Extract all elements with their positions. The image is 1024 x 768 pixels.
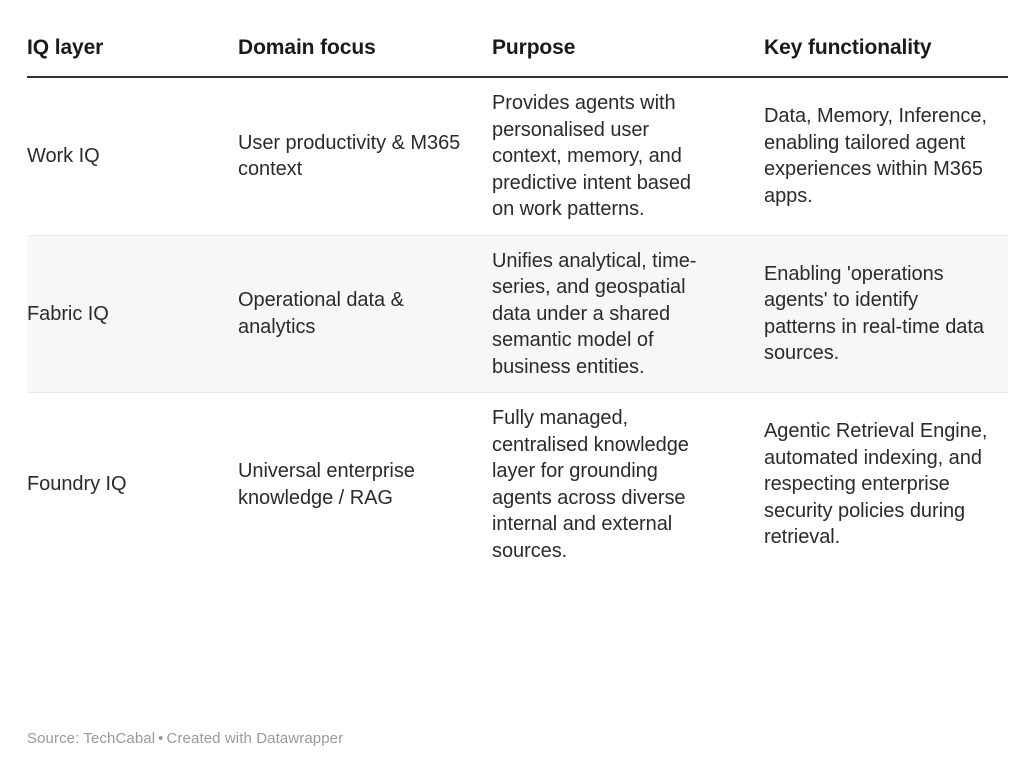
datawrapper-credit[interactable]: Created with Datawrapper <box>167 730 344 747</box>
table-header-row: IQ layer Domain focus Purpose Key functi… <box>27 36 1008 77</box>
cell-text-iq-layer: Fabric IQ <box>27 301 218 328</box>
source-label: Source: TechCabal <box>27 730 155 747</box>
cell-text-purpose: Fully managed, centralised knowledge lay… <box>492 405 716 564</box>
cell-text-domain-focus: User productivity & M365 context <box>238 130 470 183</box>
table-row: Fabric IQ Operational data & analytics U… <box>27 235 1008 393</box>
column-header-purpose[interactable]: Purpose <box>492 36 764 77</box>
cell-key-functionality: Data, Memory, Inference, enabling tailor… <box>764 77 1008 235</box>
cell-iq-layer: Fabric IQ <box>27 235 238 393</box>
table-header: IQ layer Domain focus Purpose Key functi… <box>27 36 1008 77</box>
cell-text-iq-layer: Work IQ <box>27 143 218 170</box>
cell-text-purpose: Provides agents with personalised user c… <box>492 90 716 223</box>
cell-purpose: Unifies analytical, time-series, and geo… <box>492 235 764 393</box>
figure-footer: Source: TechCabal•Created with Datawrapp… <box>27 730 343 747</box>
cell-text-key-functionality: Agentic Retrieval Engine, automated inde… <box>764 418 988 551</box>
cell-key-functionality: Agentic Retrieval Engine, automated inde… <box>764 393 1008 577</box>
column-header-key-functionality[interactable]: Key functionality <box>764 36 1008 77</box>
table-container: IQ layer Domain focus Purpose Key functi… <box>27 36 1008 576</box>
cell-text-key-functionality: Enabling 'operations agents' to identify… <box>764 261 988 367</box>
column-header-domain-focus[interactable]: Domain focus <box>238 36 492 77</box>
cell-domain-focus: User productivity & M365 context <box>238 77 492 235</box>
cell-iq-layer: Foundry IQ <box>27 393 238 577</box>
cell-domain-focus: Operational data & analytics <box>238 235 492 393</box>
table-row: Foundry IQ Universal enterprise knowledg… <box>27 393 1008 577</box>
cell-domain-focus: Universal enterprise knowledge / RAG <box>238 393 492 577</box>
cell-key-functionality: Enabling 'operations agents' to identify… <box>764 235 1008 393</box>
cell-purpose: Fully managed, centralised knowledge lay… <box>492 393 764 577</box>
cell-text-domain-focus: Operational data & analytics <box>238 287 470 340</box>
cell-purpose: Provides agents with personalised user c… <box>492 77 764 235</box>
table-row: Work IQ User productivity & M365 context… <box>27 77 1008 235</box>
footer-separator: • <box>155 730 166 747</box>
table-body: Work IQ User productivity & M365 context… <box>27 77 1008 576</box>
iq-layer-table: IQ layer Domain focus Purpose Key functi… <box>27 36 1008 576</box>
cell-text-iq-layer: Foundry IQ <box>27 471 218 498</box>
cell-iq-layer: Work IQ <box>27 77 238 235</box>
column-header-iq-layer[interactable]: IQ layer <box>27 36 238 77</box>
cell-text-purpose: Unifies analytical, time-series, and geo… <box>492 248 716 381</box>
cell-text-key-functionality: Data, Memory, Inference, enabling tailor… <box>764 103 988 209</box>
datawrapper-table-figure: IQ layer Domain focus Purpose Key functi… <box>0 0 1024 768</box>
cell-text-domain-focus: Universal enterprise knowledge / RAG <box>238 458 470 511</box>
